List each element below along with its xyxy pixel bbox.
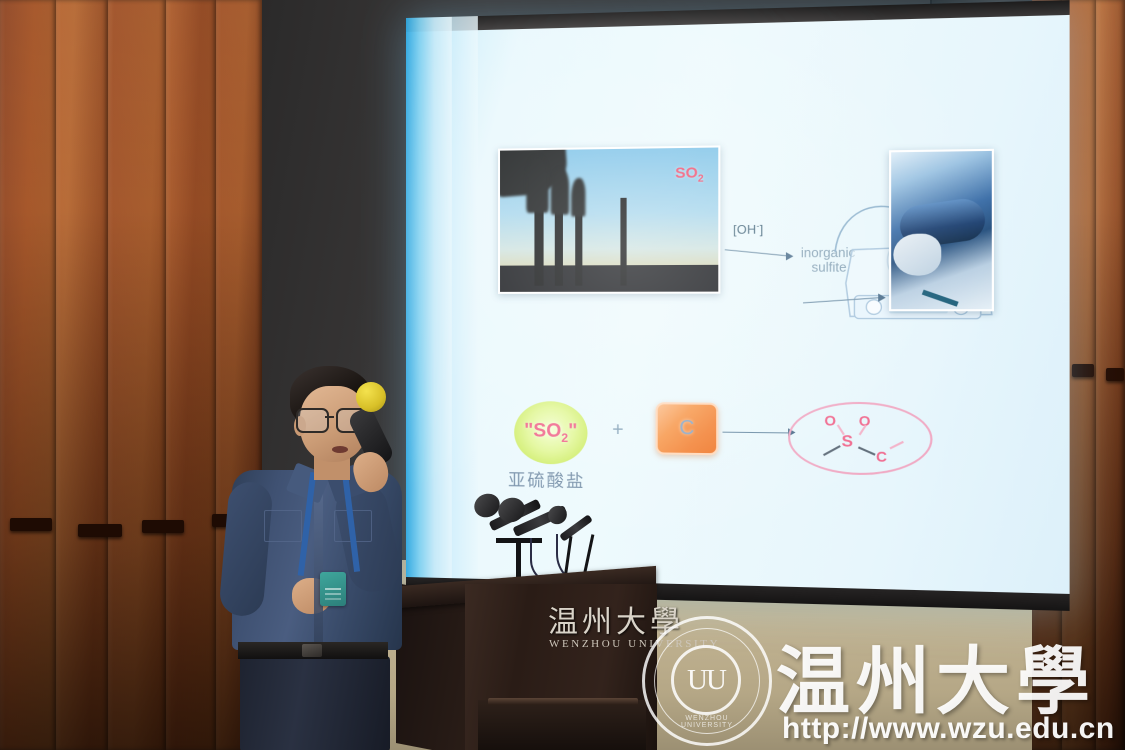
atom-carbon: C bbox=[876, 448, 887, 465]
sulfite-glow-oval: "SO2" bbox=[514, 401, 587, 465]
photo-ground bbox=[500, 265, 718, 292]
lecture-hall-photo: SO2 [OH-] inorganic sulfite bbox=[0, 0, 1125, 750]
conference-badge bbox=[320, 572, 346, 606]
atom-oxygen-1: O bbox=[824, 412, 836, 429]
smokestack bbox=[620, 198, 626, 286]
laboratory-photo bbox=[889, 149, 994, 312]
eyeglass-lens-left bbox=[296, 408, 329, 433]
carbon-label: C bbox=[679, 417, 694, 441]
reaction-arrow-1-head bbox=[786, 252, 793, 260]
handheld-microphone-head bbox=[356, 382, 386, 412]
lab-tool bbox=[922, 290, 959, 307]
so2-photo-label: SO2 bbox=[675, 164, 703, 185]
presentation-slide: SO2 [OH-] inorganic sulfite bbox=[478, 15, 1070, 611]
hydroxide-reagent-label: [OH-] bbox=[733, 221, 763, 237]
presenter bbox=[208, 360, 423, 750]
plus-operator: + bbox=[612, 419, 623, 442]
reaction-arrow-1 bbox=[725, 249, 788, 257]
reaction-arrow-2-head bbox=[878, 293, 886, 301]
eyeglass-bridge bbox=[325, 416, 334, 418]
carbon-reagent-box: C bbox=[656, 402, 719, 455]
belt-buckle bbox=[302, 644, 322, 657]
industrial-smokestack-photo: SO2 bbox=[498, 145, 720, 293]
atom-sulfur: S bbox=[842, 433, 853, 452]
shirt-placket bbox=[314, 478, 323, 646]
smoke-plume bbox=[551, 168, 569, 215]
smoke-plume bbox=[526, 156, 548, 213]
presenter-mouth bbox=[332, 446, 348, 453]
lab-hand bbox=[893, 234, 941, 276]
bond-c-methyl bbox=[889, 441, 903, 449]
sulfone-product-ring: O O S C bbox=[788, 401, 932, 476]
smoke-plume bbox=[571, 178, 585, 217]
smokestack bbox=[575, 210, 582, 285]
sulfite-chinese-label: 亚硫酸盐 bbox=[508, 466, 585, 493]
podium-university-name-cn: 温州大學 bbox=[548, 597, 684, 641]
bond-s-c bbox=[858, 446, 875, 455]
sulfite-label: "SO2" bbox=[524, 420, 577, 445]
shirt-pocket-left bbox=[264, 510, 302, 542]
podium-university-name-en: WENZHOU UNIVERSITY bbox=[549, 638, 720, 650]
reaction-arrow-3 bbox=[722, 432, 792, 434]
podium-shelf-lip bbox=[488, 698, 638, 705]
presenter-legs bbox=[240, 656, 390, 750]
bond-s-left bbox=[823, 445, 841, 456]
podium-base bbox=[478, 700, 646, 750]
